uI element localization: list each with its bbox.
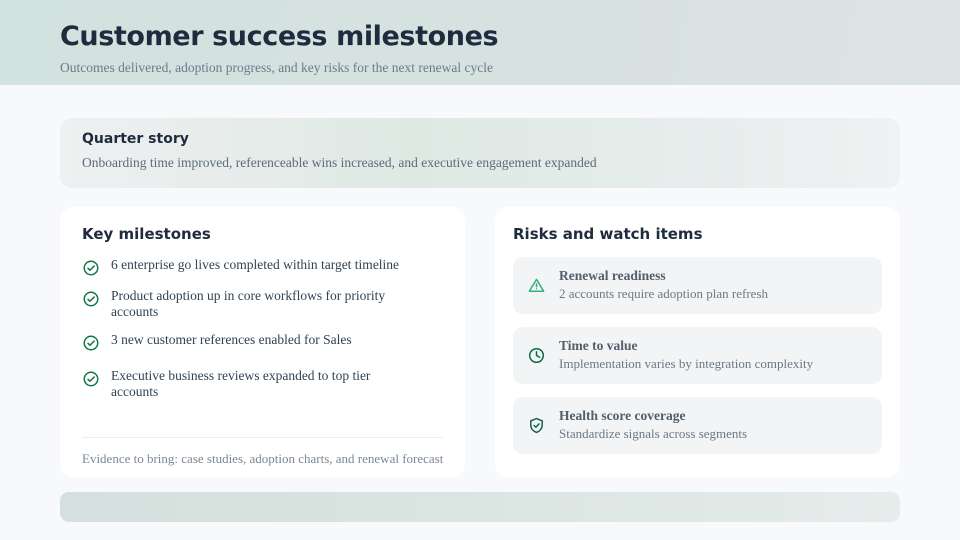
- check-circle-icon: [82, 259, 100, 277]
- page-subtitle: Outcomes delivered, adoption progress, a…: [60, 60, 960, 76]
- check-circle-icon: [82, 334, 100, 352]
- risk-text-wrap: Health score coverage Standardize signal…: [559, 408, 747, 442]
- list-item: Product adoption up in core workflows fo…: [82, 288, 443, 321]
- quarter-story-band: Quarter story Onboarding time improved, …: [60, 118, 900, 188]
- quarter-story-title: Quarter story: [82, 131, 878, 148]
- risk-item-health-score-coverage[interactable]: Health score coverage Standardize signal…: [513, 397, 882, 454]
- milestone-text: Executive business reviews expanded to t…: [111, 368, 411, 401]
- risk-text-wrap: Renewal readiness 2 accounts require ado…: [559, 268, 768, 302]
- evidence-footnote: Evidence to bring: case studies, adoptio…: [82, 451, 443, 467]
- risk-description: Implementation varies by integration com…: [559, 356, 813, 372]
- milestone-text: Product adoption up in core workflows fo…: [111, 288, 411, 321]
- footer-band: [60, 492, 900, 522]
- milestone-text: 6 enterprise go lives completed within t…: [111, 257, 399, 273]
- risk-description: 2 accounts require adoption plan refresh: [559, 286, 768, 302]
- risk-item-renewal-readiness[interactable]: Renewal readiness 2 accounts require ado…: [513, 257, 882, 314]
- warning-triangle-icon: [527, 276, 546, 295]
- risk-text-wrap: Time to value Implementation varies by i…: [559, 338, 813, 372]
- milestones-list: 6 enterprise go lives completed within t…: [82, 257, 443, 401]
- quarter-story-text: Onboarding time improved, referenceable …: [82, 155, 878, 171]
- risk-item-time-to-value[interactable]: Time to value Implementation varies by i…: [513, 327, 882, 384]
- risk-label: Renewal readiness: [559, 268, 768, 285]
- shield-check-icon: [527, 416, 546, 435]
- key-milestones-title: Key milestones: [82, 225, 443, 243]
- risks-title: Risks and watch items: [513, 225, 882, 243]
- check-circle-icon: [82, 370, 100, 388]
- list-item: 3 new customer references enabled for Sa…: [82, 332, 443, 352]
- list-item: Executive business reviews expanded to t…: [82, 368, 443, 401]
- key-milestones-card: Key milestones 6 enterprise go lives com…: [60, 207, 465, 478]
- risk-label: Health score coverage: [559, 408, 747, 425]
- list-item: 6 enterprise go lives completed within t…: [82, 257, 443, 277]
- page-title: Customer success milestones: [60, 22, 960, 52]
- check-circle-icon: [82, 290, 100, 308]
- risk-label: Time to value: [559, 338, 813, 355]
- card-divider: [82, 437, 443, 438]
- risk-description: Standardize signals across segments: [559, 426, 747, 442]
- page-header: Customer success milestones Outcomes del…: [0, 0, 960, 85]
- clock-icon: [527, 346, 546, 365]
- risks-card: Risks and watch items Renewal readiness …: [495, 207, 900, 478]
- slide-page: Customer success milestones Outcomes del…: [0, 0, 960, 540]
- milestone-text: 3 new customer references enabled for Sa…: [111, 332, 352, 348]
